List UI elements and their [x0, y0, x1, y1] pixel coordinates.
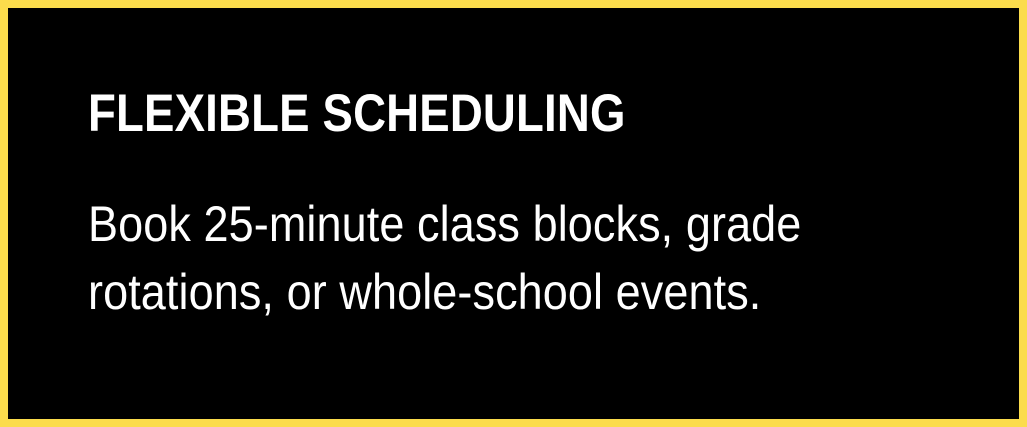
card-inner-surface: FLEXIBLE SCHEDULING Book 25-minute class…: [8, 8, 1019, 419]
card-body-line: rotations, or whole-school events.: [88, 258, 801, 326]
feature-card: FLEXIBLE SCHEDULING Book 25-minute class…: [0, 0, 1027, 427]
card-heading: FLEXIBLE SCHEDULING: [88, 87, 626, 140]
card-body-text: Book 25-minute class blocks, grade rotat…: [88, 190, 801, 326]
card-body-line: Book 25-minute class blocks, grade: [88, 190, 801, 258]
